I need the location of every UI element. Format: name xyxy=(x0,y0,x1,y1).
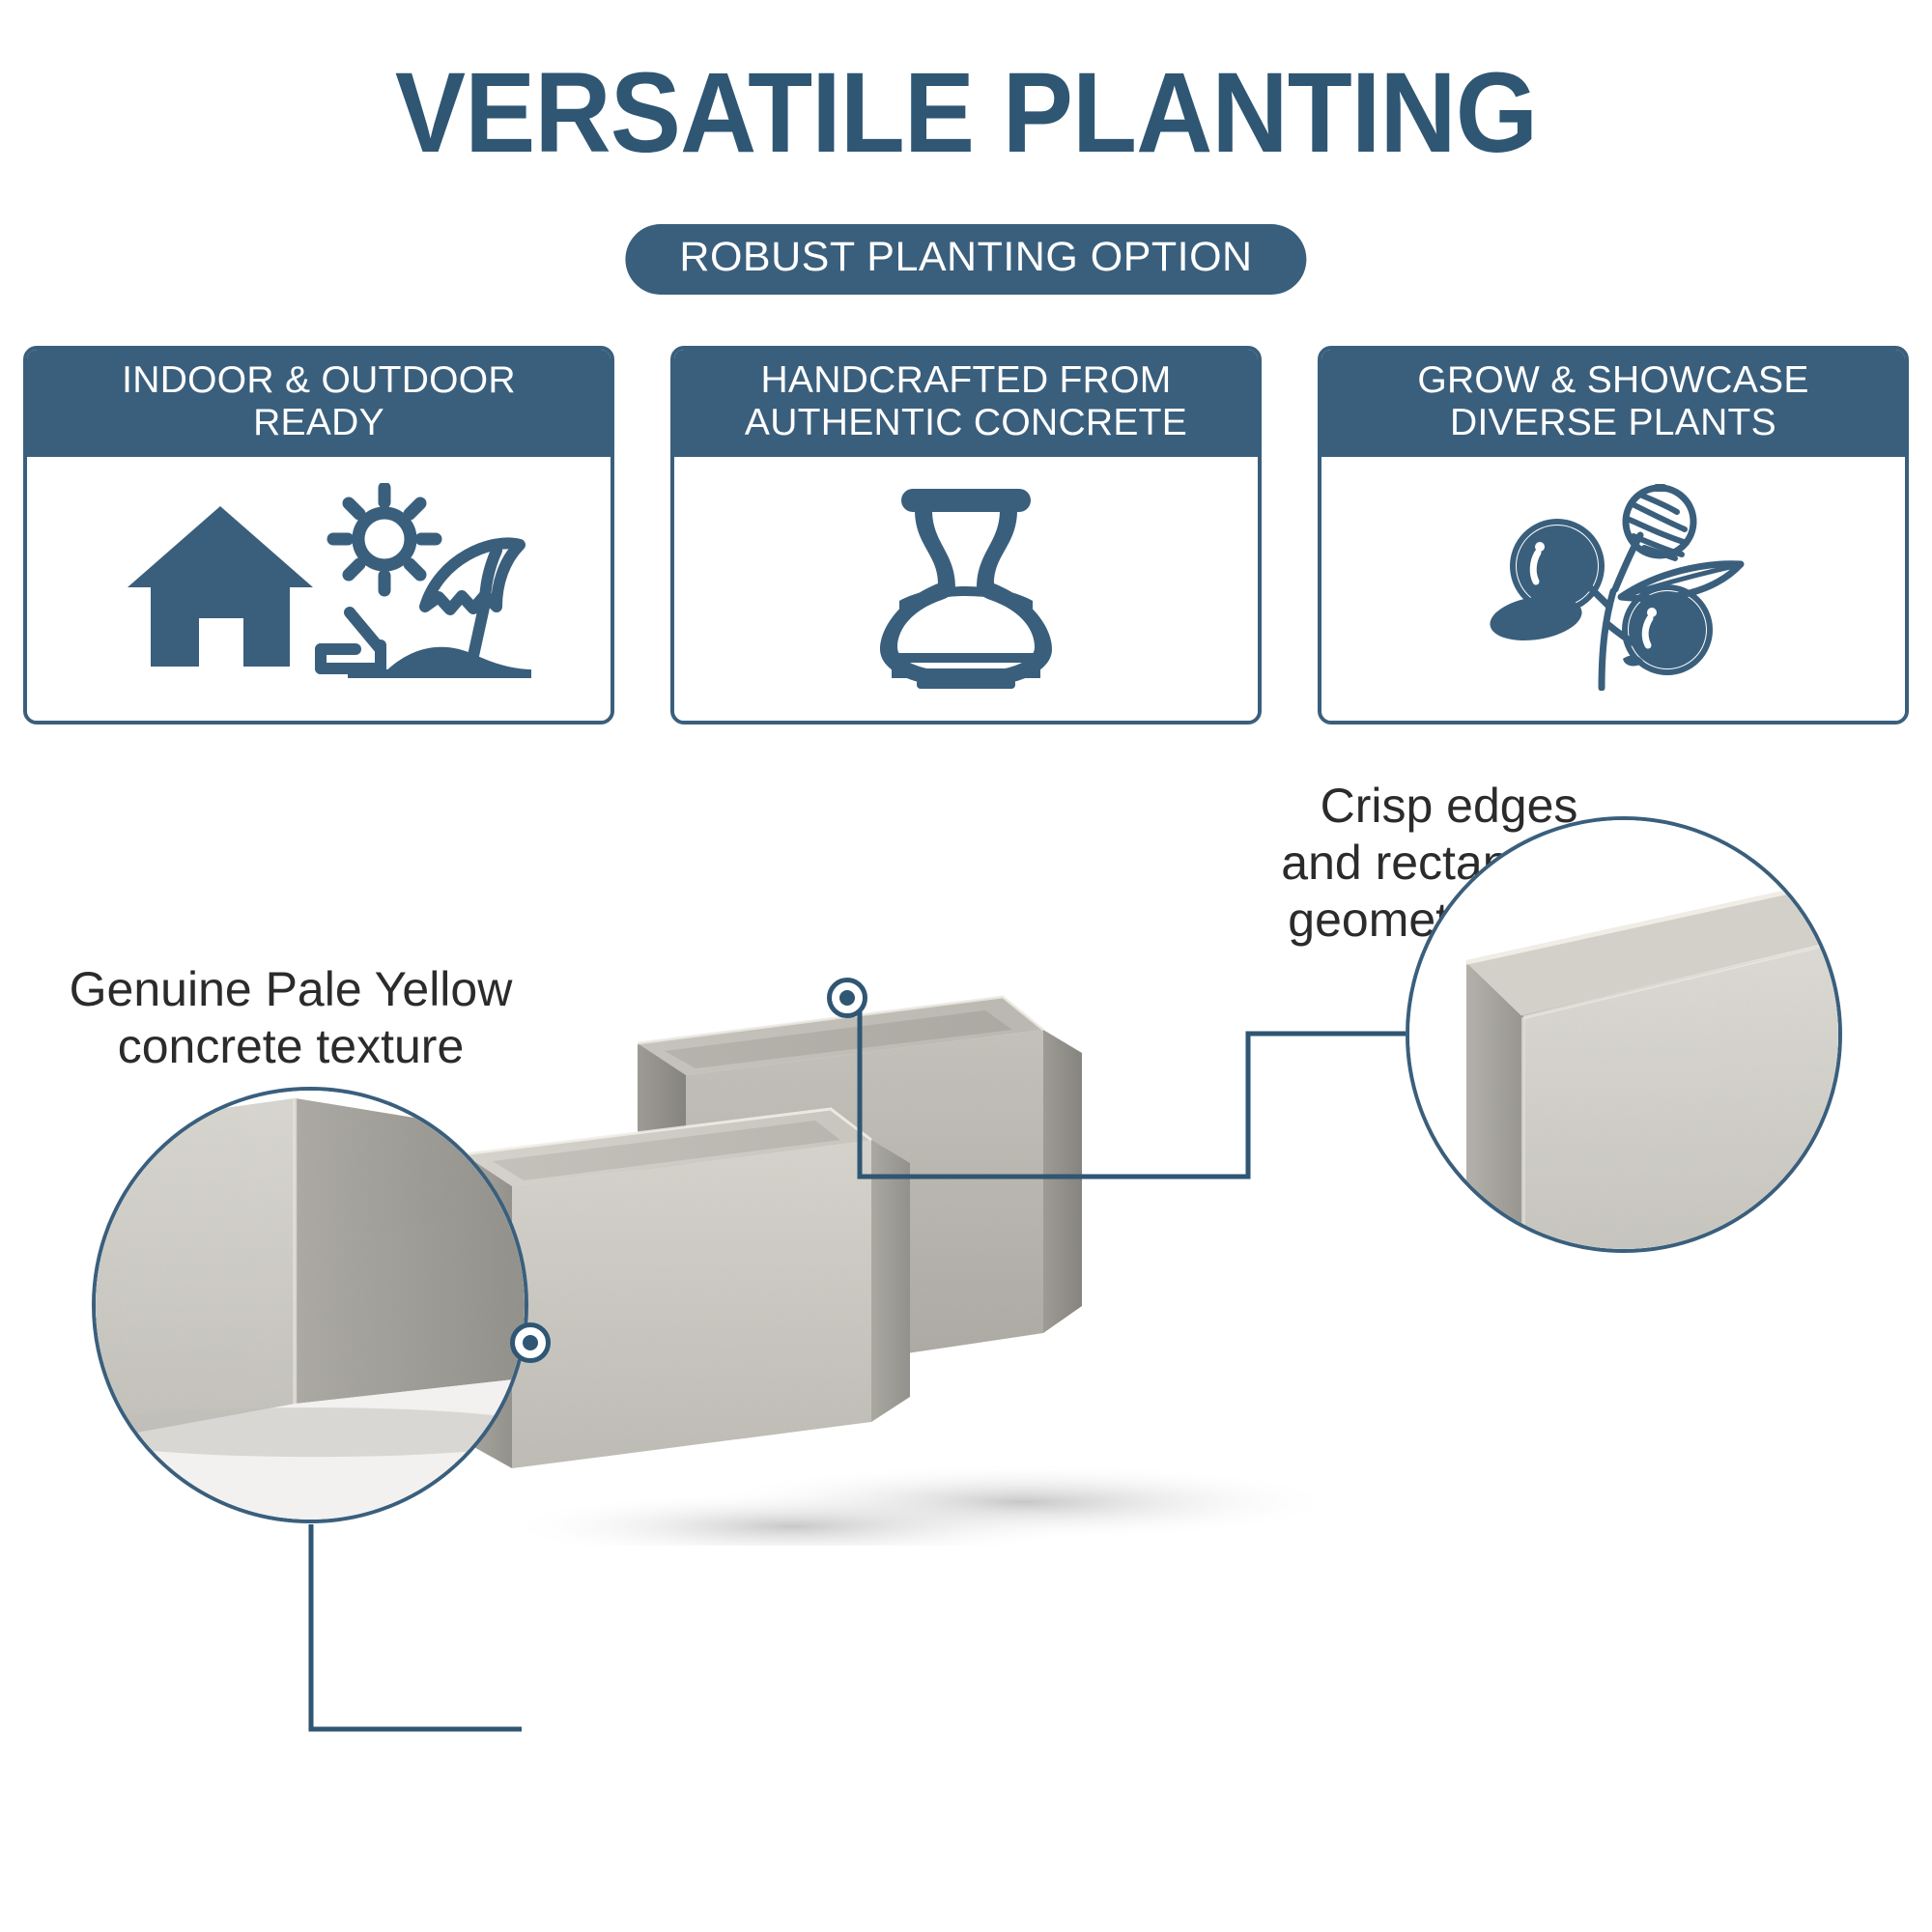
small-planter-front xyxy=(464,1109,910,1468)
feature-card-indoor-outdoor: INDOOR & OUTDOOR READY xyxy=(23,346,614,724)
feature-card-diverse-plants: GROW & SHOWCASE DIVERSE PLANTS xyxy=(1318,346,1909,724)
callout-dot-texture[interactable] xyxy=(510,1322,551,1363)
callout-circle-texture xyxy=(92,1087,528,1523)
feature-card-title: GROW & SHOWCASE DIVERSE PLANTS xyxy=(1321,350,1905,457)
feature-card-title: INDOOR & OUTDOOR READY xyxy=(27,350,611,457)
subtitle-badge: ROBUST PLANTING OPTION xyxy=(625,224,1306,295)
feature-card-icon-area xyxy=(1321,457,1905,721)
striped-berry xyxy=(1626,488,1693,558)
feature-card-title-line2: DIVERSE PLANTS xyxy=(1329,402,1897,444)
feature-card-icon-area xyxy=(27,457,611,721)
callout-circle-edges xyxy=(1406,816,1842,1253)
feature-card-title-line1: GROW & SHOWCASE xyxy=(1329,359,1897,402)
page-title: VERSATILE PLANTING xyxy=(68,52,1864,175)
feature-card-title-line2: AUTHENTIC CONCRETE xyxy=(682,402,1250,444)
feature-card-row: INDOOR & OUTDOOR READY xyxy=(23,346,1909,724)
feature-card-title-line2: READY xyxy=(35,402,603,444)
feature-card-icon-area xyxy=(674,457,1258,721)
house-sun-beach-icon xyxy=(106,483,531,691)
feature-card-handcrafted-concrete: HANDCRAFTED FROM AUTHENTIC CONCRETE xyxy=(670,346,1262,724)
leaf-right xyxy=(1621,564,1741,599)
vase-icon xyxy=(845,483,1087,691)
callout-dot-edges[interactable] xyxy=(827,978,867,1018)
feature-card-title: HANDCRAFTED FROM AUTHENTIC CONCRETE xyxy=(674,350,1258,457)
leader-line-left xyxy=(311,1524,522,1729)
crisp-edge-closeup xyxy=(1409,820,1838,1249)
berry-branch-icon xyxy=(1478,483,1748,691)
feature-card-title-line1: INDOOR & OUTDOOR xyxy=(35,359,603,402)
infographic-page: VERSATILE PLANTING ROBUST PLANTING OPTIO… xyxy=(0,0,1932,1932)
concrete-texture-closeup xyxy=(96,1091,525,1520)
product-image xyxy=(406,947,1526,1546)
feature-card-title-line1: HANDCRAFTED FROM xyxy=(682,359,1250,402)
